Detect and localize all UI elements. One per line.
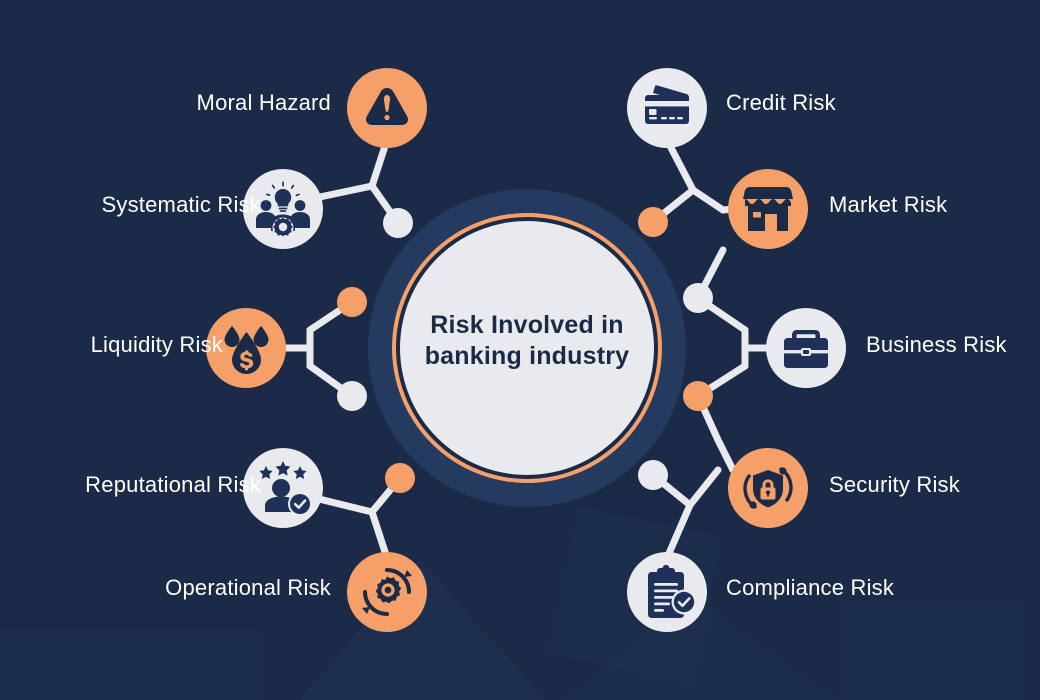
label-credit-risk[interactable]: Credit Risk bbox=[726, 92, 836, 114]
node-operational-risk[interactable] bbox=[347, 552, 427, 632]
ring-dot-ne-orange bbox=[638, 207, 668, 237]
node-compliance-risk[interactable] bbox=[627, 552, 707, 632]
label-market-risk[interactable]: Market Risk bbox=[829, 194, 947, 216]
label-reputational-risk[interactable]: Reputational Risk bbox=[85, 474, 261, 496]
ring-dot-sw-orange bbox=[385, 463, 415, 493]
ring-dot-se-white bbox=[638, 460, 668, 490]
label-systematic-risk[interactable]: Systematic Risk bbox=[102, 194, 261, 216]
center-title-line1: Risk Involved in bbox=[392, 310, 662, 341]
ring-dot-e-white bbox=[683, 283, 713, 313]
ring-dot-w-white bbox=[337, 381, 367, 411]
node-business-risk[interactable] bbox=[766, 308, 846, 388]
ring-dot-w-orange bbox=[337, 287, 367, 317]
center-title-line2: banking industry bbox=[392, 341, 662, 372]
ring-dot-nw-white bbox=[383, 208, 413, 238]
node-market-risk[interactable] bbox=[728, 169, 808, 249]
center-title: Risk Involved in banking industry bbox=[392, 310, 662, 373]
label-moral-hazard[interactable]: Moral Hazard bbox=[197, 92, 331, 114]
label-security-risk[interactable]: Security Risk bbox=[829, 474, 960, 496]
node-credit-risk[interactable] bbox=[627, 68, 707, 148]
node-security-risk[interactable] bbox=[728, 448, 808, 528]
ring-dot-e-orange bbox=[683, 381, 713, 411]
label-operational-risk[interactable]: Operational Risk bbox=[165, 577, 331, 599]
label-compliance-risk[interactable]: Compliance Risk bbox=[726, 577, 894, 599]
label-liquidity-risk[interactable]: Liquidity Risk bbox=[91, 334, 223, 356]
node-moral-hazard[interactable] bbox=[347, 68, 427, 148]
label-business-risk[interactable]: Business Risk bbox=[866, 334, 1007, 356]
storefront-icon bbox=[743, 187, 793, 231]
infographic-canvas: Risk Involved in banking industry Moral … bbox=[0, 0, 1040, 700]
